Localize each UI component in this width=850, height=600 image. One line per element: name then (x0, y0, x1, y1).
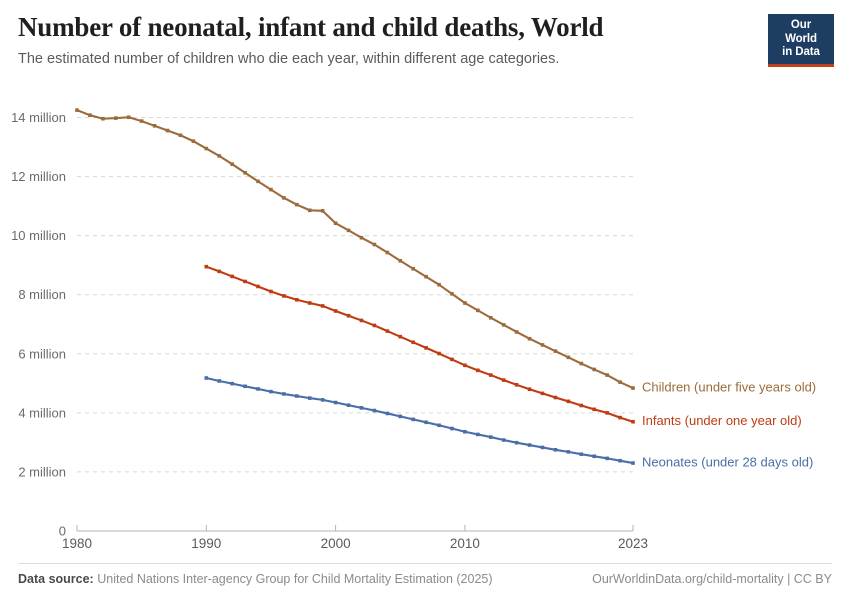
y-axis-tick-label: 6 million (18, 346, 66, 361)
data-point-marker[interactable] (554, 448, 558, 452)
data-point-marker[interactable] (411, 418, 415, 422)
series-line-0[interactable] (77, 110, 633, 388)
data-point-marker[interactable] (605, 457, 609, 461)
data-point-marker[interactable] (282, 294, 286, 298)
data-point-marker[interactable] (450, 427, 454, 431)
data-point-marker[interactable] (579, 452, 583, 456)
series-label-0[interactable]: Children (under five years old) (642, 379, 816, 394)
data-point-marker[interactable] (282, 196, 286, 200)
y-axis-tick-label: 10 million (11, 228, 66, 243)
data-point-marker[interactable] (386, 329, 390, 333)
data-point-marker[interactable] (605, 373, 609, 377)
series-label-2[interactable]: Neonates (under 28 days old) (642, 455, 813, 470)
data-point-marker[interactable] (217, 154, 221, 158)
data-point-marker[interactable] (476, 309, 480, 313)
data-point-marker[interactable] (243, 171, 247, 175)
data-point-marker[interactable] (205, 147, 209, 151)
data-point-marker[interactable] (592, 368, 596, 372)
data-point-marker[interactable] (437, 423, 441, 427)
data-point-marker[interactable] (295, 203, 299, 207)
data-point-marker[interactable] (386, 251, 390, 255)
data-point-marker[interactable] (618, 380, 622, 384)
y-axis-tick-labels: 02 million4 million6 million8 million10 … (11, 110, 66, 538)
y-axis-tick-label: 14 million (11, 110, 66, 125)
data-point-marker[interactable] (592, 454, 596, 458)
data-point-marker[interactable] (579, 362, 583, 366)
data-point-marker[interactable] (256, 180, 260, 184)
data-point-marker[interactable] (140, 119, 144, 123)
footer-source: Data source: United Nations Inter-agency… (18, 572, 493, 586)
data-point-marker[interactable] (398, 335, 402, 339)
data-point-marker[interactable] (321, 398, 325, 402)
data-point-marker[interactable] (308, 208, 312, 212)
data-point-marker[interactable] (528, 443, 532, 447)
data-point-marker[interactable] (308, 301, 312, 305)
data-point-marker[interactable] (360, 406, 364, 410)
data-point-marker[interactable] (360, 236, 364, 240)
series-inline-labels: Children (under five years old)Infants (… (642, 379, 816, 469)
data-point-marker[interactable] (528, 387, 532, 391)
data-point-marker[interactable] (347, 229, 351, 233)
data-point-marker[interactable] (631, 386, 635, 390)
data-point-marker[interactable] (450, 358, 454, 362)
data-point-marker[interactable] (502, 438, 506, 442)
x-axis-tick-label: 1980 (62, 536, 92, 551)
data-point-marker[interactable] (631, 461, 635, 465)
data-point-marker[interactable] (230, 162, 234, 166)
data-point-marker[interactable] (321, 209, 325, 213)
data-point-marker[interactable] (463, 430, 467, 434)
x-axis-tick-labels: 19801990200020102023 (62, 536, 648, 551)
data-point-marker[interactable] (618, 459, 622, 463)
chart-page: Number of neonatal, infant and child dea… (0, 0, 850, 600)
data-point-marker[interactable] (515, 330, 519, 334)
data-point-marker[interactable] (437, 283, 441, 287)
footer-source-value: United Nations Inter-agency Group for Ch… (97, 572, 492, 586)
data-point-marker[interactable] (256, 285, 260, 289)
data-point-marker[interactable] (515, 441, 519, 445)
data-point-marker[interactable] (217, 270, 221, 274)
data-point-marker[interactable] (205, 265, 209, 269)
data-point-marker[interactable] (502, 378, 506, 382)
series-group (75, 108, 635, 465)
data-point-marker[interactable] (347, 314, 351, 318)
data-point-marker[interactable] (243, 384, 247, 388)
data-point-marker[interactable] (347, 403, 351, 407)
data-point-marker[interactable] (192, 139, 196, 143)
data-point-marker[interactable] (424, 346, 428, 350)
data-point-marker[interactable] (476, 433, 480, 437)
axes-group (77, 525, 633, 531)
x-axis-tick-label: 2023 (618, 536, 648, 551)
data-point-marker[interactable] (373, 409, 377, 413)
data-point-marker[interactable] (230, 382, 234, 386)
line-chart-svg: 02 million4 million6 million8 million10 … (0, 0, 850, 600)
data-point-marker[interactable] (424, 275, 428, 279)
data-point-marker[interactable] (463, 364, 467, 368)
data-point-marker[interactable] (592, 408, 596, 412)
data-point-marker[interactable] (450, 292, 454, 296)
data-point-marker[interactable] (373, 243, 377, 247)
data-point-marker[interactable] (541, 392, 545, 396)
data-point-marker[interactable] (567, 400, 571, 404)
data-point-marker[interactable] (282, 392, 286, 396)
data-point-marker[interactable] (463, 301, 467, 305)
data-point-marker[interactable] (88, 113, 92, 117)
data-point-marker[interactable] (398, 259, 402, 263)
data-point-marker[interactable] (334, 309, 338, 313)
series-label-1[interactable]: Infants (under one year old) (642, 413, 802, 428)
y-axis-tick-label: 2 million (18, 464, 66, 479)
data-point-marker[interactable] (631, 420, 635, 424)
data-point-marker[interactable] (205, 376, 209, 380)
data-point-marker[interactable] (295, 298, 299, 302)
data-point-marker[interactable] (269, 390, 273, 394)
data-point-marker[interactable] (386, 412, 390, 416)
data-point-marker[interactable] (269, 290, 273, 294)
data-point-marker[interactable] (437, 352, 441, 356)
data-point-marker[interactable] (166, 129, 170, 133)
data-point-marker[interactable] (489, 316, 493, 320)
footer-source-key: Data source: (18, 572, 94, 586)
data-point-marker[interactable] (515, 383, 519, 387)
data-point-marker[interactable] (308, 396, 312, 400)
x-axis-tick-label: 2010 (450, 536, 480, 551)
data-point-marker[interactable] (502, 323, 506, 327)
data-point-marker[interactable] (579, 404, 583, 408)
data-point-marker[interactable] (489, 373, 493, 377)
y-axis-tick-label: 12 million (11, 169, 66, 184)
data-point-marker[interactable] (217, 379, 221, 383)
data-point-marker[interactable] (541, 446, 545, 450)
data-point-marker[interactable] (256, 387, 260, 391)
data-point-marker[interactable] (424, 421, 428, 425)
chart-footer: Data source: United Nations Inter-agency… (18, 563, 832, 586)
data-point-marker[interactable] (114, 116, 118, 120)
data-point-marker[interactable] (476, 369, 480, 373)
data-point-marker[interactable] (541, 343, 545, 347)
data-point-marker[interactable] (605, 411, 609, 415)
data-point-marker[interactable] (75, 108, 79, 112)
data-point-marker[interactable] (554, 396, 558, 400)
data-point-marker[interactable] (295, 394, 299, 398)
y-axis-tick-label: 8 million (18, 287, 66, 302)
data-point-marker[interactable] (618, 416, 622, 420)
data-point-marker[interactable] (153, 124, 157, 128)
data-point-marker[interactable] (398, 415, 402, 419)
x-axis-tick-label: 2000 (321, 536, 351, 551)
data-point-marker[interactable] (554, 349, 558, 353)
data-point-marker[interactable] (127, 115, 131, 119)
data-point-marker[interactable] (321, 304, 325, 308)
data-point-marker[interactable] (101, 117, 105, 121)
footer-link[interactable]: OurWorldinData.org/child-mortality | CC … (592, 572, 832, 586)
data-point-marker[interactable] (528, 337, 532, 341)
y-axis-tick-label: 4 million (18, 405, 66, 420)
data-point-marker[interactable] (411, 340, 415, 344)
data-point-marker[interactable] (334, 401, 338, 405)
gridlines-group (77, 118, 633, 472)
chart-plot-area: 02 million4 million6 million8 million10 … (0, 0, 850, 600)
x-axis-tick-label: 1990 (191, 536, 221, 551)
data-point-marker[interactable] (334, 221, 338, 225)
data-point-marker[interactable] (489, 435, 493, 439)
data-point-marker[interactable] (411, 267, 415, 271)
data-point-marker[interactable] (269, 188, 273, 192)
data-point-marker[interactable] (567, 450, 571, 454)
data-point-marker[interactable] (179, 133, 183, 137)
data-point-marker[interactable] (230, 275, 234, 279)
data-point-marker[interactable] (567, 356, 571, 360)
data-point-marker[interactable] (373, 324, 377, 328)
data-point-marker[interactable] (360, 319, 364, 323)
data-point-marker[interactable] (243, 280, 247, 284)
